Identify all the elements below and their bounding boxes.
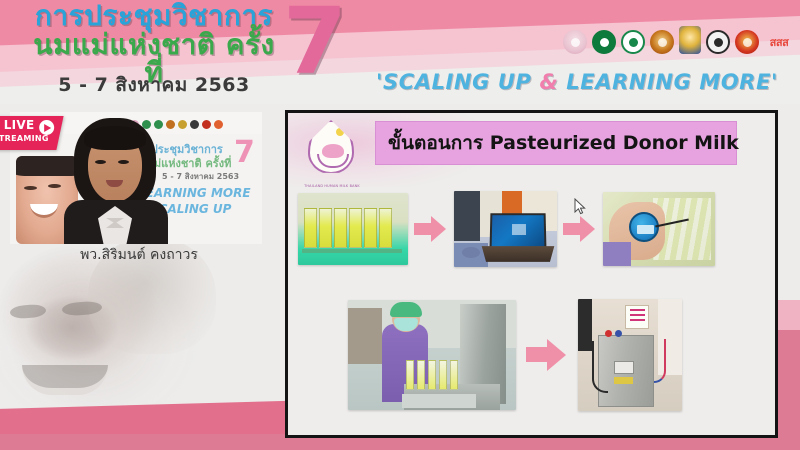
arrow-step-1-to-2 (414, 216, 448, 242)
speaker-portrait (66, 118, 164, 244)
cradling-hands-icon (317, 154, 349, 168)
presentation-stage: การประชุมวิชาการ นมแม่แห่งชาติ ครั้งที่ … (0, 0, 800, 450)
video-backdrop-edition-number: 7 (234, 138, 255, 168)
arrow-step-4-to-5 (526, 339, 568, 371)
photo-laptop-data-entry (454, 191, 557, 267)
department-of-health-logo-icon (621, 30, 645, 54)
tagline-ampersand: & (539, 70, 558, 94)
conference-tagline: 'SCALING UP & LEARNING MORE' (362, 70, 792, 94)
royal-patronage-emblem-icon (563, 30, 587, 54)
video-backdrop-date: 5 - 7 สิงหาคม 2563 (162, 170, 239, 183)
photo-pasteurizer-machine (578, 299, 682, 411)
ministry-of-public-health-logo-icon (592, 30, 616, 54)
human-milk-bank-logo: THAILAND HUMAN MILK BANK (300, 118, 364, 186)
thaihealth-label: สสส (770, 37, 789, 48)
live-badge-bottom-label: STREAMING (0, 134, 49, 143)
conference-header: การประชุมวิชาการ นมแม่แห่งชาติ ครั้งที่ … (0, 0, 800, 104)
photo-thermometer-probe (603, 192, 715, 266)
thai-royal-emblem-icon (679, 26, 701, 54)
tagline-suffix: LEARNING MORE' (558, 70, 778, 94)
play-icon (39, 120, 54, 135)
milk-drop-icon (308, 120, 354, 174)
photo-nurse-loading-bottles (348, 300, 516, 410)
mouse-cursor (574, 198, 586, 216)
photo-milk-bottles-rack (298, 193, 408, 265)
sponsor-logo-strip: สสส (563, 26, 794, 54)
process-row-1 (298, 185, 768, 273)
royal-college-emblem-icon (650, 30, 674, 54)
conference-edition-number: 7 (283, 0, 347, 88)
live-badge-top-label: LIVE (4, 118, 35, 132)
conference-title-line1: การประชุมวิชาการ (24, 2, 284, 30)
speaker-name-label: พว.สิริมนต์ คงถาวร (14, 244, 264, 266)
process-row-2 (348, 291, 748, 419)
university-seal-logo-icon (706, 30, 730, 54)
live-streaming-badge: LIVE STREAMING (0, 116, 64, 150)
slide-title-text: ขั้นตอนการ Pasteurized Donor Milk (376, 128, 739, 158)
tagline-prefix: 'SCALING UP (376, 70, 540, 94)
slide-panel: THAILAND HUMAN MILK BANK ขั้นตอนการ Past… (285, 110, 778, 438)
arrow-step-2-to-3 (563, 216, 597, 242)
slide-title-box: ขั้นตอนการ Pasteurized Donor Milk (375, 121, 737, 165)
medical-council-emblem-icon (735, 30, 759, 54)
conference-date-range: 5 - 7 สิงหาคม 2563 (24, 70, 284, 100)
thaihealth-sss-logo-icon: สสส (764, 30, 794, 54)
